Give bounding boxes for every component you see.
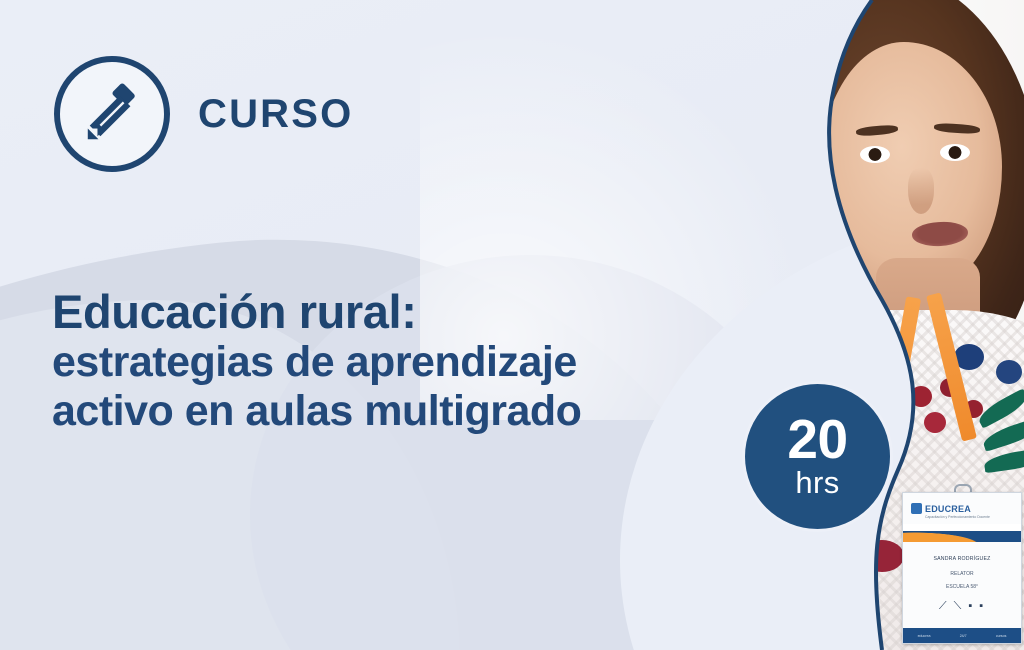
title-line-3: activo en aulas multigrado [52,387,662,435]
id-badge-footer-right: cursos [996,634,1007,638]
duration-badge: 20 hrs [745,384,890,529]
id-badge-logo: EDUCREA [903,493,1021,514]
speaker-photo: EDUCREA Capacitación y Perfeccionamiento… [624,0,1024,650]
educrea-logo-mark [911,503,922,514]
id-badge: EDUCREA Capacitación y Perfeccionamiento… [902,492,1022,644]
embroidery-flower [996,360,1022,384]
id-badge-name: SANDRA RODRÍGUEZ [903,556,1021,562]
course-eyebrow: CURSO [54,56,353,172]
id-badge-org: EDUCREA [925,504,971,514]
course-banner: EDUCREA Capacitación y Perfeccionamiento… [0,0,1024,650]
course-title: Educación rural: estrategias de aprendiz… [52,288,662,435]
pencil-glyph [81,83,143,145]
id-badge-footer: educrea 24/7 cursos [903,628,1021,643]
speaker-eye-left [860,146,890,163]
embroidery-flower [924,412,946,433]
eyebrow-label: CURSO [198,92,353,137]
id-badge-footer-mid: 24/7 [960,634,967,638]
title-line-2: estrategias de aprendizaje [52,338,662,386]
id-badge-glyphs: ⟋ ⟍ ▪ ▪ [903,600,1021,613]
embroidery-flower [860,540,904,572]
speaker-nose [908,168,934,214]
id-badge-school: ESCUELA 58° [903,584,1021,590]
id-badge-wave-graphic [903,524,1021,542]
speaker-eye-right [940,144,970,161]
duration-unit: hrs [795,467,839,500]
id-badge-role: RELATOR [903,571,1021,577]
title-line-1: Educación rural: [52,288,662,336]
embroidery-flower [910,386,932,407]
photo-clip-shape: EDUCREA Capacitación y Perfeccionamiento… [624,0,1024,650]
id-badge-footer-left: educrea [918,634,931,638]
id-badge-tagline: Capacitación y Perfeccionamiento Docente [903,514,1021,520]
duration-value: 20 [787,414,847,466]
pencil-icon [54,56,170,172]
